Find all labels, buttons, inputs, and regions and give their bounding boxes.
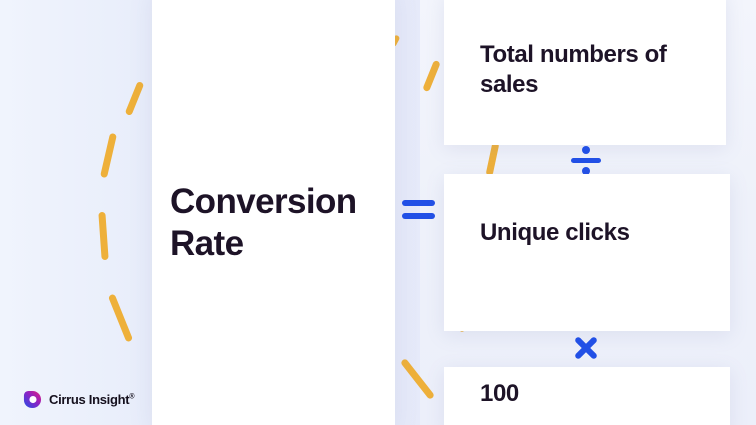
term-card-unique-clicks-label: Unique clicks: [480, 218, 630, 248]
brand-trademark: ®: [129, 394, 134, 401]
brand-logo[interactable]: Cirrus Insight®: [23, 390, 134, 409]
term-card-total-sales-label: Total numbers of sales: [480, 40, 700, 100]
division-bar: [571, 158, 601, 163]
cirrus-insight-logo-icon: [23, 390, 42, 409]
division-icon: [571, 146, 601, 176]
slide-canvas: Conversion Rate Total numbers of sales U…: [0, 0, 756, 425]
brand-logo-text: Cirrus Insight®: [49, 392, 134, 407]
multiplication-icon: [572, 334, 600, 362]
equals-operator: [402, 200, 435, 223]
equals-bar-bottom: [402, 213, 435, 219]
term-card-hundred[interactable]: 100: [444, 367, 730, 425]
page-title: Conversion Rate: [170, 181, 400, 265]
division-dot-top: [582, 146, 590, 154]
term-card-unique-clicks[interactable]: Unique clicks: [444, 174, 730, 331]
brand-name: Cirrus Insight: [49, 392, 129, 407]
term-card-total-sales[interactable]: Total numbers of sales: [444, 0, 726, 145]
equals-bar-top: [402, 200, 435, 206]
term-card-hundred-label: 100: [480, 379, 519, 409]
background-left: [0, 0, 160, 425]
